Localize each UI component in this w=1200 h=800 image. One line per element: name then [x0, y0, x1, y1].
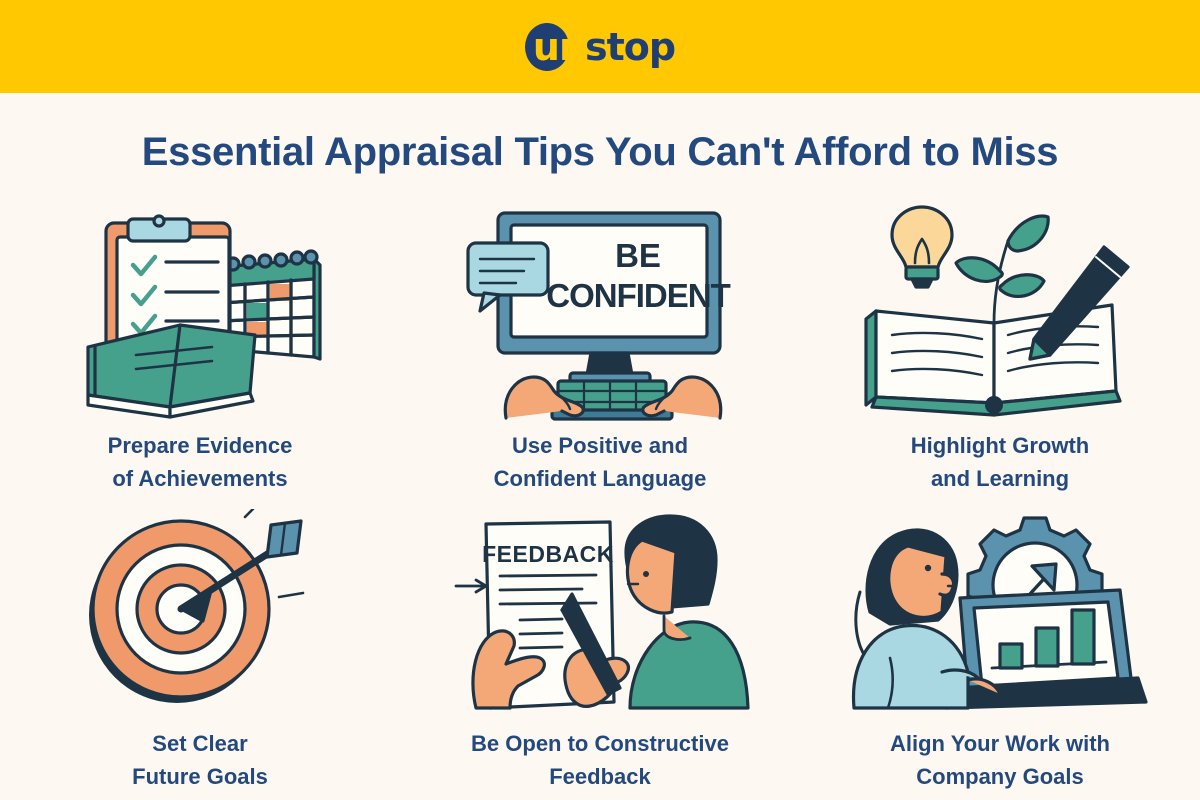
tip-card-prepare-evidence: Prepare Evidence of Achievements [0, 205, 400, 503]
tip-label-positive-language: Use Positive and Confident Language [494, 429, 707, 495]
spark-line-top [245, 509, 253, 517]
tip-label-line1: Set Clear [132, 727, 268, 760]
tip-label-constructive-feedback: Be Open to Constructive Feedback [471, 727, 729, 793]
illustration-person-reading-feedback: FEEDBACK [400, 503, 800, 721]
lightbulb-icon [892, 207, 952, 287]
tip-label-line1: Align Your Work with [890, 727, 1110, 760]
screen-text-line2: CONFIDENT [546, 277, 730, 314]
illustration-clipboard-book-calendar [0, 205, 400, 423]
tip-label-highlight-growth: Highlight Growth and Learning [911, 429, 1089, 495]
laptop-icon [946, 590, 1146, 708]
logo-wordmark: unstop [525, 22, 675, 72]
bar-1 [1000, 644, 1022, 668]
tip-card-align-company-goals: Align Your Work with Company Goals [800, 503, 1200, 800]
tip-label-line2: and Learning [911, 462, 1089, 495]
target-icon [89, 521, 269, 703]
header-band: unstop [0, 0, 1200, 93]
tip-label-line1: Prepare Evidence [108, 429, 293, 462]
bar-3 [1072, 610, 1094, 664]
illustration-woman-laptop-chart-gear [800, 503, 1200, 721]
logo-text-un: un [533, 25, 585, 69]
illustration-monitor-be-confident: BE CONFIDENT [400, 205, 800, 423]
tip-card-constructive-feedback: FEEDBACK [400, 503, 800, 800]
spark-line-right [279, 593, 303, 597]
screen-text-line1: BE [615, 237, 661, 274]
page-title: Essential Appraisal Tips You Can't Affor… [0, 130, 1200, 175]
tip-label-line1: Be Open to Constructive [471, 727, 729, 760]
plant-icon [956, 216, 1048, 323]
logo-text-stop: stop [585, 25, 675, 69]
tip-label-line1: Highlight Growth [911, 429, 1089, 462]
tip-label-line2: Feedback [471, 760, 729, 793]
illustration-open-book-bulb-plant-pen [800, 205, 1200, 423]
tip-label-line2: Company Goals [890, 760, 1110, 793]
illustration-target-with-arrow [0, 503, 400, 721]
tip-label-align-company-goals: Align Your Work with Company Goals [890, 727, 1110, 793]
person-icon [626, 516, 748, 708]
tip-label-line2: Future Goals [132, 760, 268, 793]
tip-label-prepare-evidence: Prepare Evidence of Achievements [108, 429, 293, 495]
tip-card-positive-language: BE CONFIDENT [400, 205, 800, 503]
tip-label-line2: Confident Language [494, 462, 707, 495]
feedback-document-title: FEEDBACK [482, 541, 614, 567]
unstop-logo[interactable]: unstop [525, 22, 675, 72]
arrow-pointer-icon [456, 580, 486, 592]
bar-2 [1036, 628, 1058, 666]
tips-grid: Prepare Evidence of Achievements BE CONF… [0, 205, 1200, 800]
tip-label-line2: of Achievements [108, 462, 293, 495]
tip-card-highlight-growth: Highlight Growth and Learning [800, 205, 1200, 503]
tip-label-future-goals: Set Clear Future Goals [132, 727, 268, 793]
open-book-icon [866, 305, 1120, 415]
tip-card-future-goals: Set Clear Future Goals [0, 503, 400, 800]
tip-label-line1: Use Positive and [494, 429, 707, 462]
